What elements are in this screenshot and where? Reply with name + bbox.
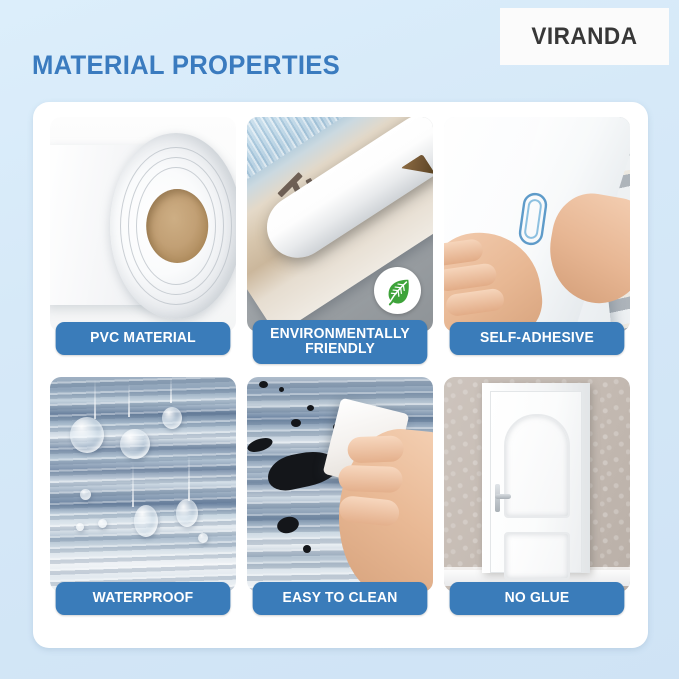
droplet-trail: [94, 379, 96, 419]
water-droplet: [198, 533, 208, 543]
feature-label-self-adhesive: SELF-ADHESIVE: [450, 322, 625, 355]
feature-card-pvc-material[interactable]: PVC MATERIAL: [50, 117, 236, 355]
finger-shape: [338, 465, 403, 493]
door-panel: [490, 391, 582, 573]
feature-label-pvc-material: PVC MATERIAL: [56, 322, 231, 355]
brand-logo-box: VIRANDA: [500, 8, 669, 65]
finger-shape: [347, 435, 404, 463]
water-droplet: [98, 519, 107, 528]
ink-stain: [279, 387, 284, 392]
ink-stain: [259, 381, 268, 388]
feature-card-self-adhesive[interactable]: SELF-ADHESIVE: [444, 117, 630, 355]
infographic-page: VIRANDA MATERIAL PROPERTIES PVC MATERIAL: [0, 0, 679, 679]
finger-shape: [445, 287, 505, 317]
easy-to-clean-image: [247, 377, 433, 592]
green-leaf-icon: [383, 276, 413, 306]
finger-shape: [444, 262, 498, 292]
waterproof-image: [50, 377, 236, 592]
no-glue-image: [444, 377, 630, 592]
water-droplet: [70, 417, 104, 453]
feature-grid: PVC MATERIAL: [50, 117, 631, 633]
feature-card-no-glue[interactable]: NO GLUE: [444, 377, 630, 615]
door-frame: [482, 383, 590, 573]
ink-stain: [307, 405, 314, 411]
stripe-texture: [50, 377, 236, 592]
finger-shape: [338, 495, 400, 527]
eco-wallpaper-image: [247, 117, 433, 332]
page-title: MATERIAL PROPERTIES: [32, 50, 340, 81]
ink-stain: [303, 545, 311, 553]
door-handle: [495, 494, 511, 499]
feature-card-waterproof[interactable]: WATERPROOF: [50, 377, 236, 615]
brand-logo-text: VIRANDA: [531, 23, 637, 51]
finger-shape: [444, 238, 484, 267]
self-adhesive-image: [444, 117, 630, 332]
water-droplet: [120, 429, 150, 459]
ink-stain: [291, 419, 301, 427]
feature-label-waterproof: WATERPROOF: [56, 582, 231, 615]
droplet-trail: [128, 383, 130, 417]
feature-label-easy-to-clean: EASY TO CLEAN: [253, 582, 428, 615]
feature-label-environmentally-friendly: ENVIRONMENTALLY FRIENDLY: [253, 320, 428, 364]
droplet-trail: [132, 463, 134, 507]
water-droplet: [134, 505, 158, 537]
water-droplet: [162, 407, 182, 429]
door-lower-panel: [504, 532, 570, 580]
feature-card-easy-to-clean[interactable]: EASY TO CLEAN: [247, 377, 433, 615]
water-droplet: [176, 499, 198, 527]
pvc-cardboard-core: [146, 189, 208, 263]
door-upper-panel: [504, 414, 570, 518]
water-droplet: [76, 523, 84, 531]
feature-label-no-glue: NO GLUE: [450, 582, 625, 615]
droplet-trail: [170, 377, 172, 403]
pvc-roll-shape: [110, 133, 236, 319]
feature-panel: PVC MATERIAL: [33, 102, 648, 648]
droplet-trail: [188, 453, 190, 501]
eco-leaf-badge: [374, 267, 421, 314]
feature-card-environmentally-friendly[interactable]: ENVIRONMENTALLY FRIENDLY: [247, 117, 433, 355]
water-droplet: [80, 489, 91, 500]
pvc-roll-image: [50, 117, 236, 332]
